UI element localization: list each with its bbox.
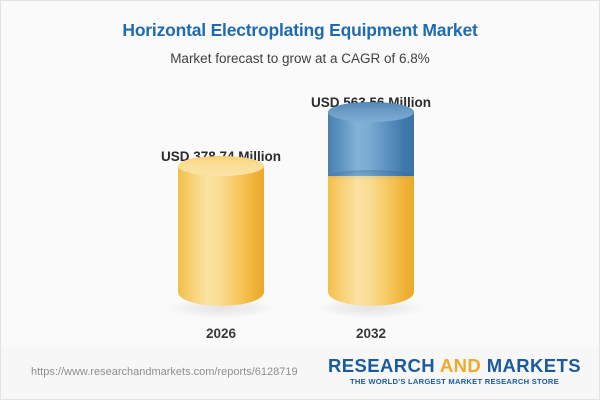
research-and-markets-logo[interactable]: RESEARCH AND MARKETS THE WORLD'S LARGEST… — [328, 356, 581, 386]
category-label-2032: 2032 — [291, 326, 451, 341]
cylinder-bar-2026[interactable] — [178, 166, 264, 306]
bar-top-ellipse — [328, 102, 414, 122]
footer: https://www.researchandmarkets.com/repor… — [1, 347, 599, 399]
chart-plot-area: USD 378.74 Million 2026 USD 563.56 Milli… — [1, 89, 599, 341]
bar-segment-seam — [328, 170, 414, 182]
chart-header: Horizontal Electroplating Equipment Mark… — [1, 1, 599, 66]
chart-card: Horizontal Electroplating Equipment Mark… — [0, 0, 600, 400]
chart-subtitle: Market forecast to grow at a CAGR of 6.8… — [1, 41, 599, 66]
bar-body — [178, 166, 264, 306]
bar-body — [328, 112, 414, 306]
bar-group-2026: USD 378.74 Million 2026 — [141, 89, 301, 341]
bar-segment-base — [328, 176, 414, 306]
bar-segment-base — [178, 166, 264, 306]
cylinder-bar-2032[interactable] — [328, 112, 414, 306]
category-label-2026: 2026 — [141, 326, 301, 341]
report-url-link[interactable]: https://www.researchandmarkets.com/repor… — [31, 366, 298, 378]
page-title: Horizontal Electroplating Equipment Mark… — [1, 20, 599, 41]
logo-word-and: AND — [440, 355, 481, 376]
bar-group-2032: USD 563.56 Million 2032 — [291, 89, 451, 341]
bar-top-ellipse — [178, 156, 264, 176]
logo-word-markets: MARKETS — [487, 355, 581, 376]
logo-word-research: RESEARCH — [328, 355, 435, 376]
logo-tagline: THE WORLD'S LARGEST MARKET RESEARCH STOR… — [328, 375, 581, 386]
logo-wordmark: RESEARCH AND MARKETS — [328, 356, 581, 375]
